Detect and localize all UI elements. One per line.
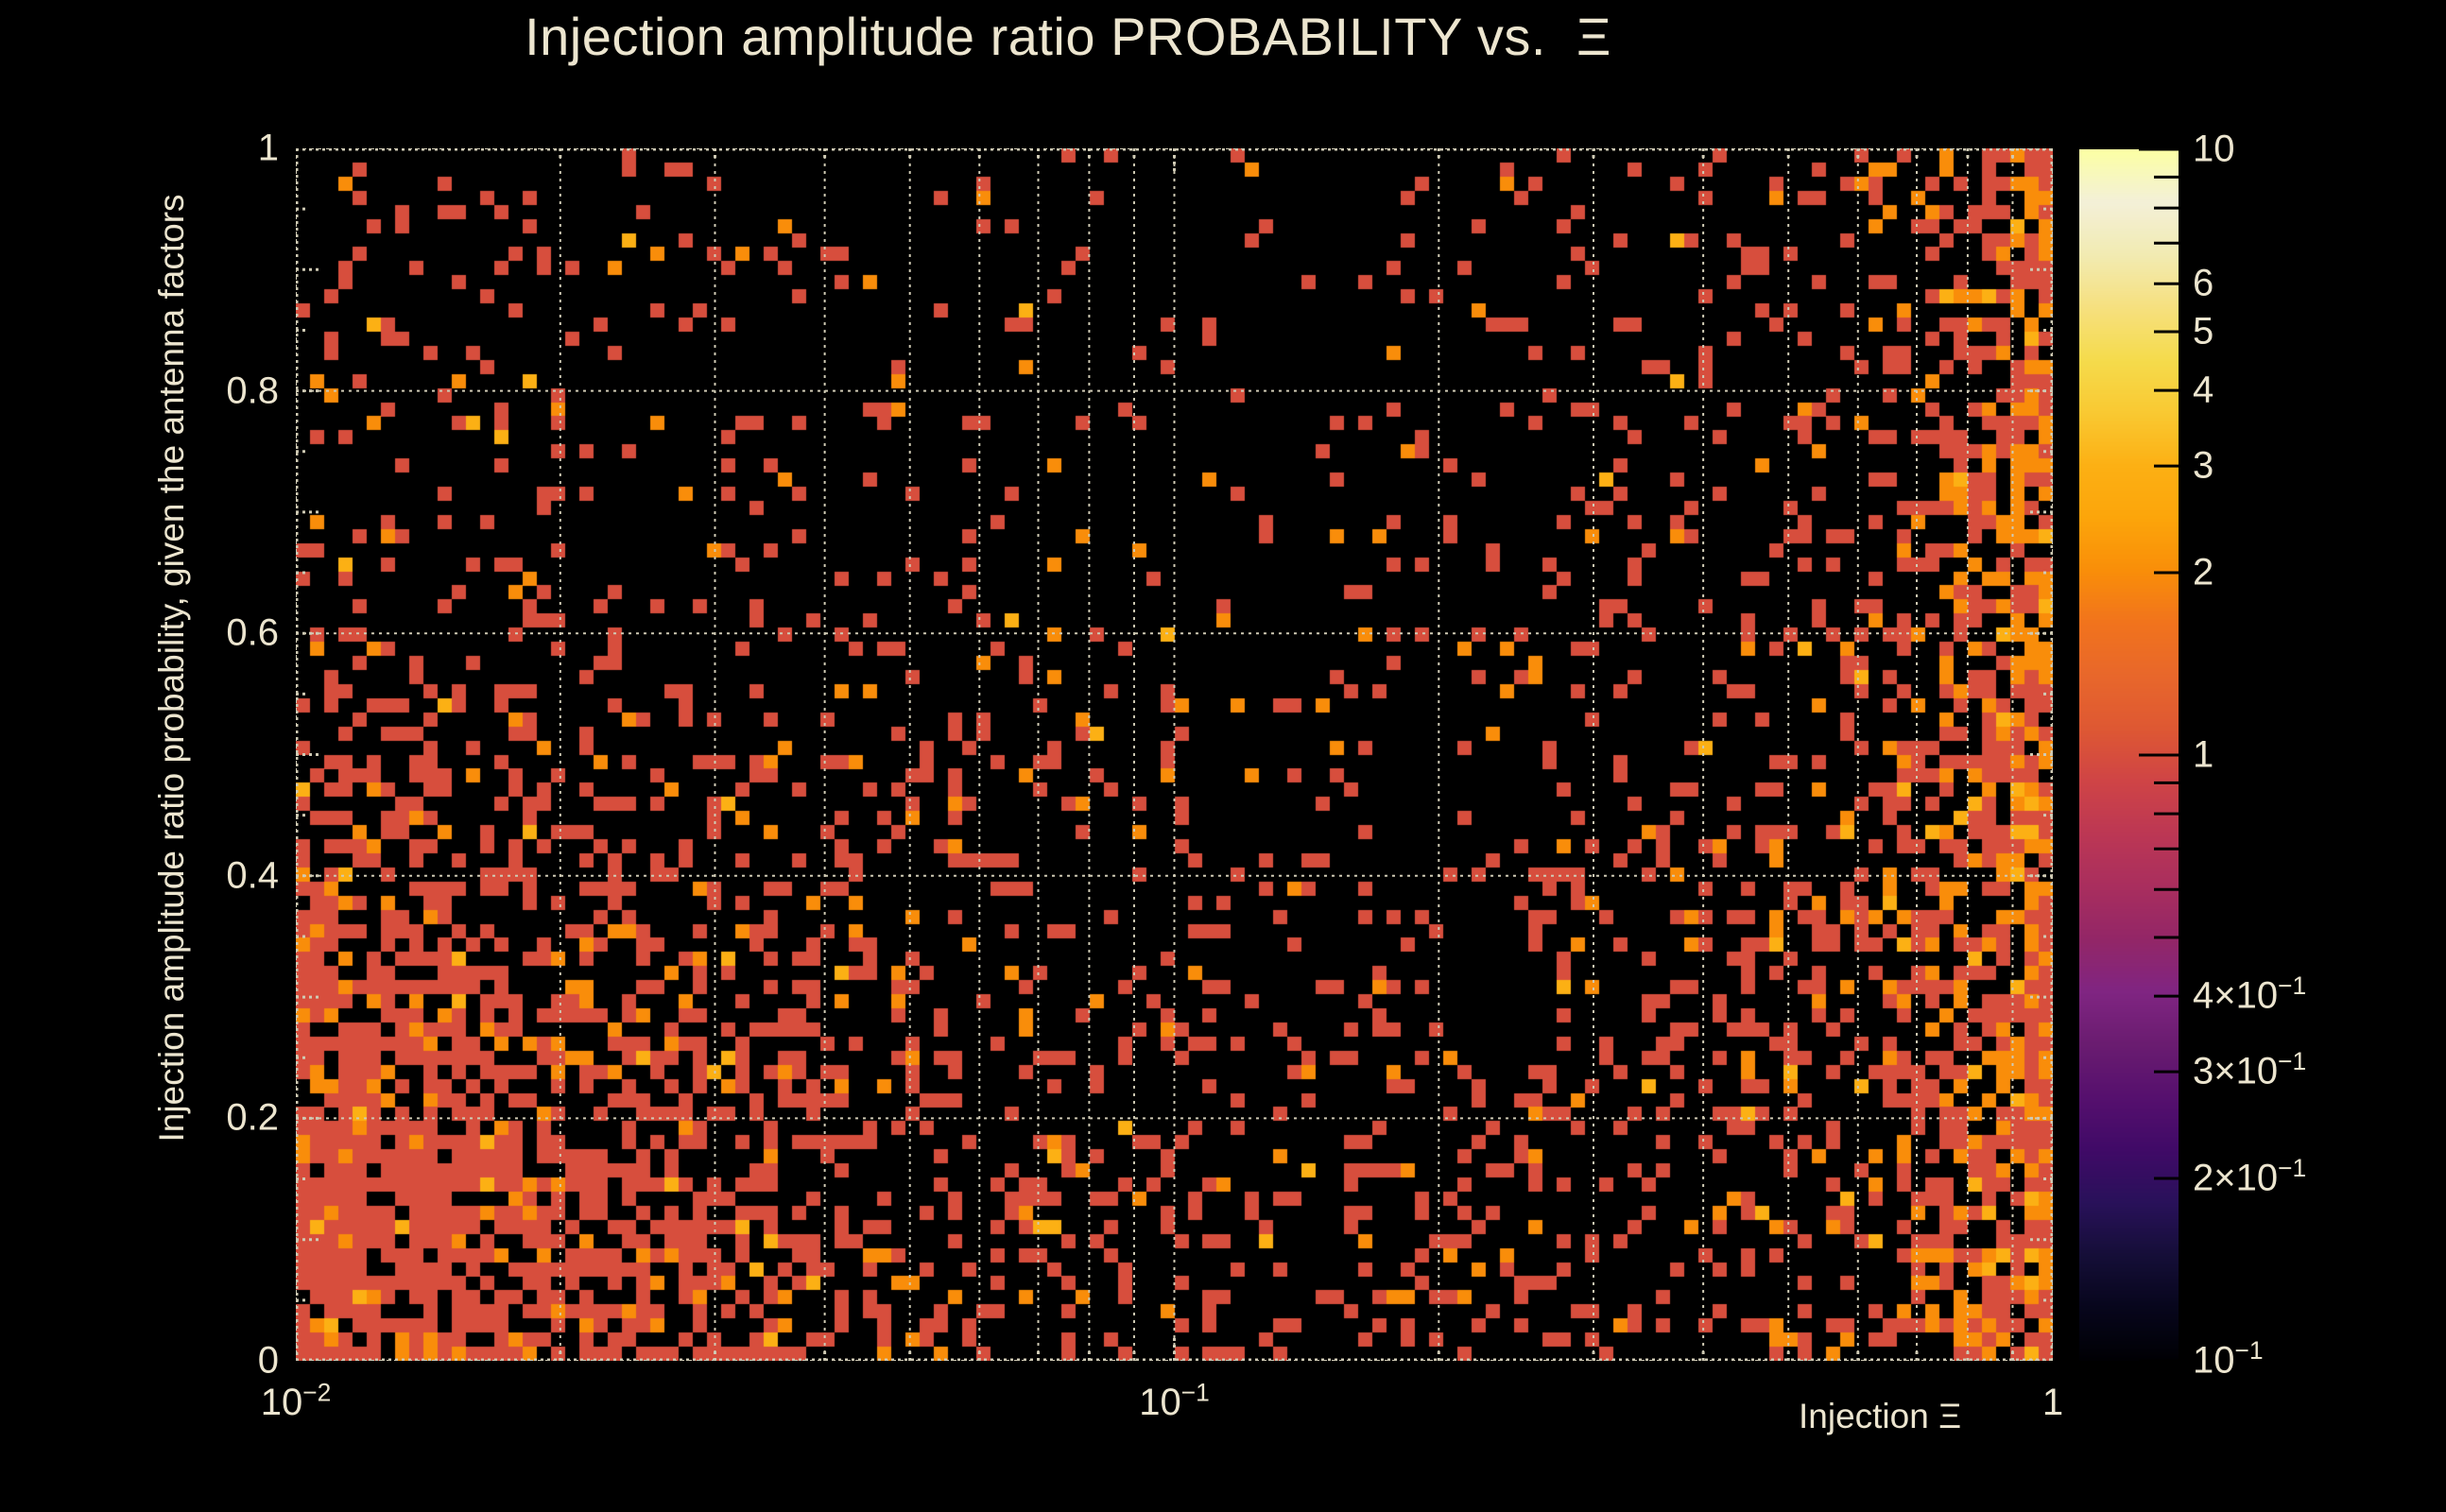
plot-canvas: Injection amplitude ratio PROBABILITY vs… [0, 0, 2446, 1512]
y-tick-label-4: 0.2 [151, 1097, 279, 1140]
colorbar-tick-label-4: 3 [2193, 445, 2213, 488]
x-axis-title: Injection Ξ [1799, 1397, 1961, 1436]
heatmap-cells [296, 148, 2053, 1361]
colorbar-tick-label-0: 10 [2193, 129, 2235, 171]
y-tick-label-1: 0.8 [151, 369, 279, 412]
x-tick-label-0: 10−2 [261, 1382, 332, 1424]
plot-area [296, 148, 2053, 1361]
colorbar-tick-label-8: 3×10−1 [2193, 1051, 2306, 1093]
colorbar-tick-label-3: 4 [2193, 369, 2213, 412]
page-title: Injection amplitude ratio PROBABILITY vs… [0, 6, 2136, 67]
colorbar-tick-label-10: 10−1 [2193, 1340, 2264, 1383]
y-tick-label-5: 0 [151, 1340, 279, 1383]
colorbar-tick-label-7: 4×10−1 [2193, 975, 2306, 1018]
colorbar-tick-label-6: 1 [2193, 734, 2213, 777]
y-tick-label-2: 0.6 [151, 612, 279, 655]
colorbar-tick-label-2: 5 [2193, 310, 2213, 352]
colorbar[interactable] [2079, 149, 2179, 1361]
x-tick-label-2: 1 [2042, 1382, 2063, 1424]
x-tick-label-1: 10−1 [1139, 1382, 1210, 1424]
colorbar-gradient [2079, 149, 2179, 1361]
y-tick-label-3: 0.4 [151, 854, 279, 897]
colorbar-tick-label-5: 2 [2193, 552, 2213, 594]
y-tick-label-0: 1 [151, 128, 279, 170]
colorbar-tick-label-9: 2×10−1 [2193, 1158, 2306, 1200]
colorbar-tick-label-1: 6 [2193, 263, 2213, 305]
